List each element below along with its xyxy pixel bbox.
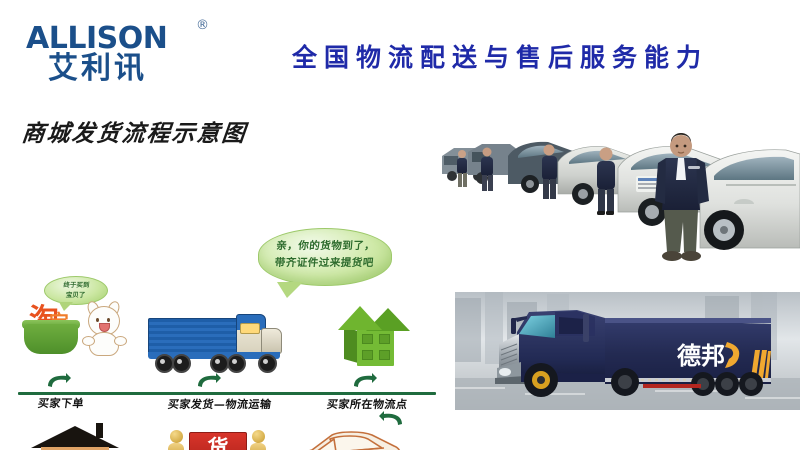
page-title: 全国物流配送与售后服务能力 bbox=[240, 38, 760, 74]
buyer-speech-bubble-small-text: 终于买到 宝贝了 bbox=[44, 280, 108, 300]
flow-caption-shipping-transport: 买家发货—物流运输 bbox=[167, 396, 272, 412]
green-house-roof-left bbox=[338, 306, 382, 330]
mover-head bbox=[170, 430, 183, 443]
service-vehicle-fleet-photo bbox=[438, 112, 800, 272]
truck-trailer bbox=[148, 318, 238, 354]
home-house-icon bbox=[33, 426, 117, 450]
shipping-flow-diagram: 商城发货流程示意图 终于买到 宝贝了 亲，你的货物到了， 带齐证件过来提货吧 淘… bbox=[0, 100, 450, 420]
bubble-big-line1: 亲，你的货物到了， bbox=[276, 240, 376, 252]
deppon-logo-text: 德邦 bbox=[677, 341, 725, 370]
shopping-basket-icon: 淘 宝 bbox=[22, 306, 80, 354]
cartoon-arm-left bbox=[82, 336, 95, 346]
slide-root: ALLISON ® 艾利讯 全国物流配送与售后服务能力 商城发货流程示意图 终于… bbox=[0, 0, 800, 450]
brand-name-cn: 艾利讯 bbox=[48, 54, 147, 84]
green-house-side-wall bbox=[344, 327, 358, 363]
sketch-car-icon bbox=[296, 426, 406, 450]
truck-wheel bbox=[258, 354, 277, 373]
mover-head bbox=[252, 430, 265, 443]
cartoon-buyer-icon bbox=[80, 306, 128, 358]
green-house-icon bbox=[338, 306, 414, 368]
allison-logo: ALLISON ® 艾利讯 bbox=[26, 18, 216, 90]
brand-name-en: ALLISON bbox=[26, 24, 167, 54]
registered-trademark-icon: ® bbox=[196, 18, 209, 33]
deppon-logistics-truck-photo: 德邦 bbox=[455, 292, 800, 410]
movers-carrying-crate-icon: 货 bbox=[163, 428, 273, 450]
bubble-small-line2: 宝贝了 bbox=[65, 291, 85, 299]
truck-wheel bbox=[227, 354, 246, 373]
house-roof bbox=[31, 426, 119, 448]
bubble-big-tail bbox=[277, 282, 303, 298]
crate-label: 货 bbox=[190, 435, 246, 450]
flow-arrow-icon bbox=[352, 372, 378, 388]
red-cargo-crate: 货 bbox=[189, 432, 247, 450]
warehouse-speech-bubble-text: 亲，你的货物到了， 带齐证件过来提货吧 bbox=[258, 238, 393, 272]
flow-arrow-icon bbox=[378, 410, 404, 426]
buyer-speech-bubble-small: 终于买到 宝贝了 bbox=[44, 276, 108, 305]
bubble-small-line1: 终于买到 bbox=[63, 281, 90, 289]
cartoon-arm-right bbox=[114, 336, 127, 346]
mover-torso bbox=[250, 443, 266, 450]
flow-arrow-icon bbox=[46, 372, 72, 388]
truck-wheel bbox=[172, 354, 191, 373]
cartoon-eye-left bbox=[96, 318, 99, 322]
green-house-window bbox=[362, 350, 373, 360]
green-house-window bbox=[379, 334, 390, 344]
flow-diagram-title: 商城发货流程示意图 bbox=[20, 114, 249, 148]
green-house-window bbox=[379, 350, 390, 360]
mover-figure-right bbox=[245, 430, 271, 450]
truck-window bbox=[240, 323, 260, 334]
truck-nose bbox=[261, 328, 282, 354]
cartoon-eye-right bbox=[107, 318, 110, 322]
basket-body bbox=[24, 324, 78, 354]
semi-truck-icon bbox=[148, 314, 282, 376]
flow-arrow-icon bbox=[196, 372, 222, 388]
mover-torso bbox=[168, 443, 184, 450]
flow-caption-order-placed: 买家下单 bbox=[37, 395, 85, 411]
mover-figure-left bbox=[163, 430, 189, 450]
warehouse-speech-bubble: 亲，你的货物到了， 带齐证件过来提货吧 bbox=[258, 228, 392, 286]
green-house-window bbox=[362, 334, 373, 344]
bubble-big-line2: 带齐证件过来提货吧 bbox=[274, 257, 374, 269]
